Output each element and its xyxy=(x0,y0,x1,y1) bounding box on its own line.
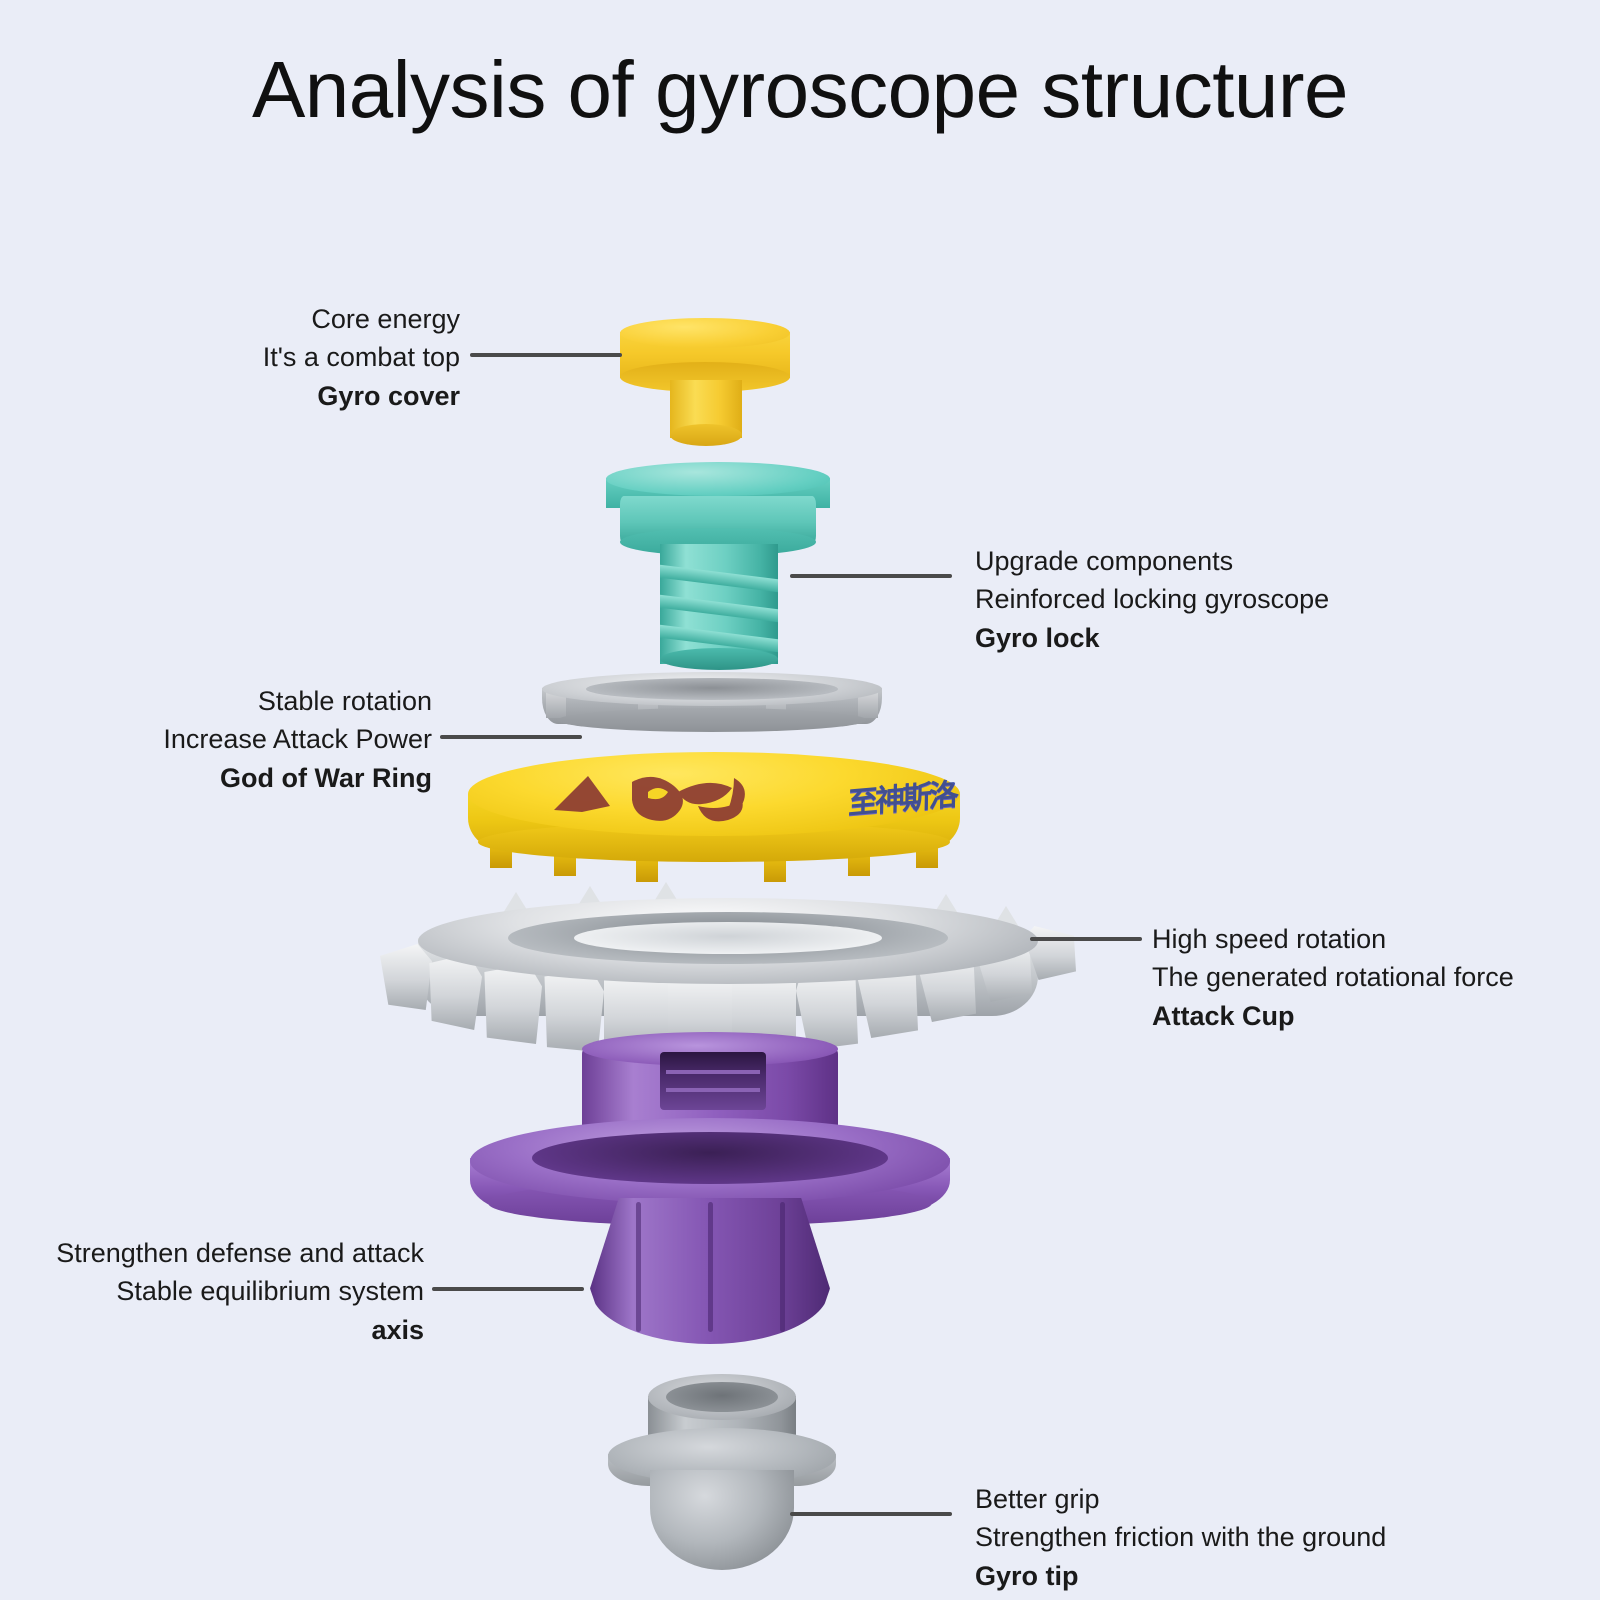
callout-attack-cup: High speed rotation The generated rotati… xyxy=(1152,920,1600,1035)
gyro-tip-bore xyxy=(666,1382,778,1412)
callout-line-2: Stable equilibrium system xyxy=(20,1272,424,1310)
callout-line-1: Core energy xyxy=(60,300,460,338)
callout-line-1: High speed rotation xyxy=(1152,920,1600,958)
leader-god-of-war-ring xyxy=(440,735,582,739)
part-attack-cup[interactable] xyxy=(378,898,1078,1054)
leader-gyro-tip xyxy=(790,1512,952,1516)
axis-flange-inner xyxy=(532,1132,888,1184)
yellow-disc-tab xyxy=(764,858,786,882)
axis-slot xyxy=(660,1052,766,1110)
leader-attack-cup xyxy=(1030,937,1142,941)
war-ring-inner-hole xyxy=(586,678,838,700)
callout-part-name: God of War Ring xyxy=(20,759,432,797)
part-yellow-disc[interactable]: 至神斯洛 xyxy=(468,752,960,884)
axis-rib xyxy=(708,1202,713,1332)
callout-part-name: Gyro tip xyxy=(975,1557,1515,1595)
callout-part-name: axis xyxy=(20,1311,424,1349)
callout-line-1: Strengthen defense and attack xyxy=(20,1234,424,1272)
gyro-cover-top-face xyxy=(620,318,790,348)
attack-cup-center-hole xyxy=(574,922,882,954)
callout-line-2: Reinforced locking gyroscope xyxy=(975,580,1495,618)
callout-line-1: Upgrade components xyxy=(975,542,1495,580)
gyro-tip-ball xyxy=(650,1470,794,1570)
diagram-canvas: Analysis of gyroscope structure xyxy=(0,0,1600,1600)
part-god-of-war-ring[interactable] xyxy=(542,672,882,734)
leader-gyro-cover xyxy=(470,353,622,357)
callout-god-of-war-ring: Stable rotation Increase Attack Power Go… xyxy=(20,682,432,797)
callout-line-2: Strengthen friction with the ground xyxy=(975,1518,1515,1556)
callout-gyro-cover: Core energy It's a combat top Gyro cover xyxy=(60,300,460,415)
part-gyro-lock[interactable] xyxy=(598,462,838,674)
attack-cup-tooth xyxy=(482,964,542,1044)
gyro-lock-barrel-end xyxy=(660,648,778,670)
callout-line-2: The generated rotational force xyxy=(1152,958,1600,996)
gyro-lock-flange-top xyxy=(606,462,830,496)
callout-part-name: Gyro cover xyxy=(60,377,460,415)
axis-rib xyxy=(780,1202,785,1332)
war-ring-underside xyxy=(558,708,866,732)
gyro-cover-stem-end xyxy=(670,424,742,446)
callout-part-name: Gyro lock xyxy=(975,619,1495,657)
callout-line-2: Increase Attack Power xyxy=(20,720,432,758)
attack-cup-tooth xyxy=(380,944,432,1010)
callout-gyro-lock: Upgrade components Reinforced locking gy… xyxy=(975,542,1495,657)
callout-gyro-tip: Better grip Strengthen friction with the… xyxy=(975,1480,1515,1595)
dragon-graphic xyxy=(548,766,828,828)
callout-part-name: Attack Cup xyxy=(1152,997,1600,1035)
yellow-disc-tab xyxy=(636,858,658,882)
leader-axis xyxy=(432,1287,584,1291)
attack-cup-tooth xyxy=(542,970,604,1052)
part-axis[interactable] xyxy=(470,1046,950,1346)
axis-slot-line xyxy=(666,1088,760,1092)
leader-gyro-lock xyxy=(790,574,952,578)
axis-rib xyxy=(636,1202,641,1332)
callout-axis: Strengthen defense and attack Stable equ… xyxy=(20,1234,424,1349)
disc-chinese-label: 至神斯洛 xyxy=(848,769,956,823)
part-gyro-cover[interactable] xyxy=(620,318,790,450)
callout-line-2: It's a combat top xyxy=(60,338,460,376)
callout-line-1: Better grip xyxy=(975,1480,1515,1518)
part-gyro-tip[interactable] xyxy=(608,1374,836,1574)
axis-slot-line xyxy=(666,1070,760,1074)
callout-line-1: Stable rotation xyxy=(20,682,432,720)
page-title: Analysis of gyroscope structure xyxy=(0,44,1600,136)
